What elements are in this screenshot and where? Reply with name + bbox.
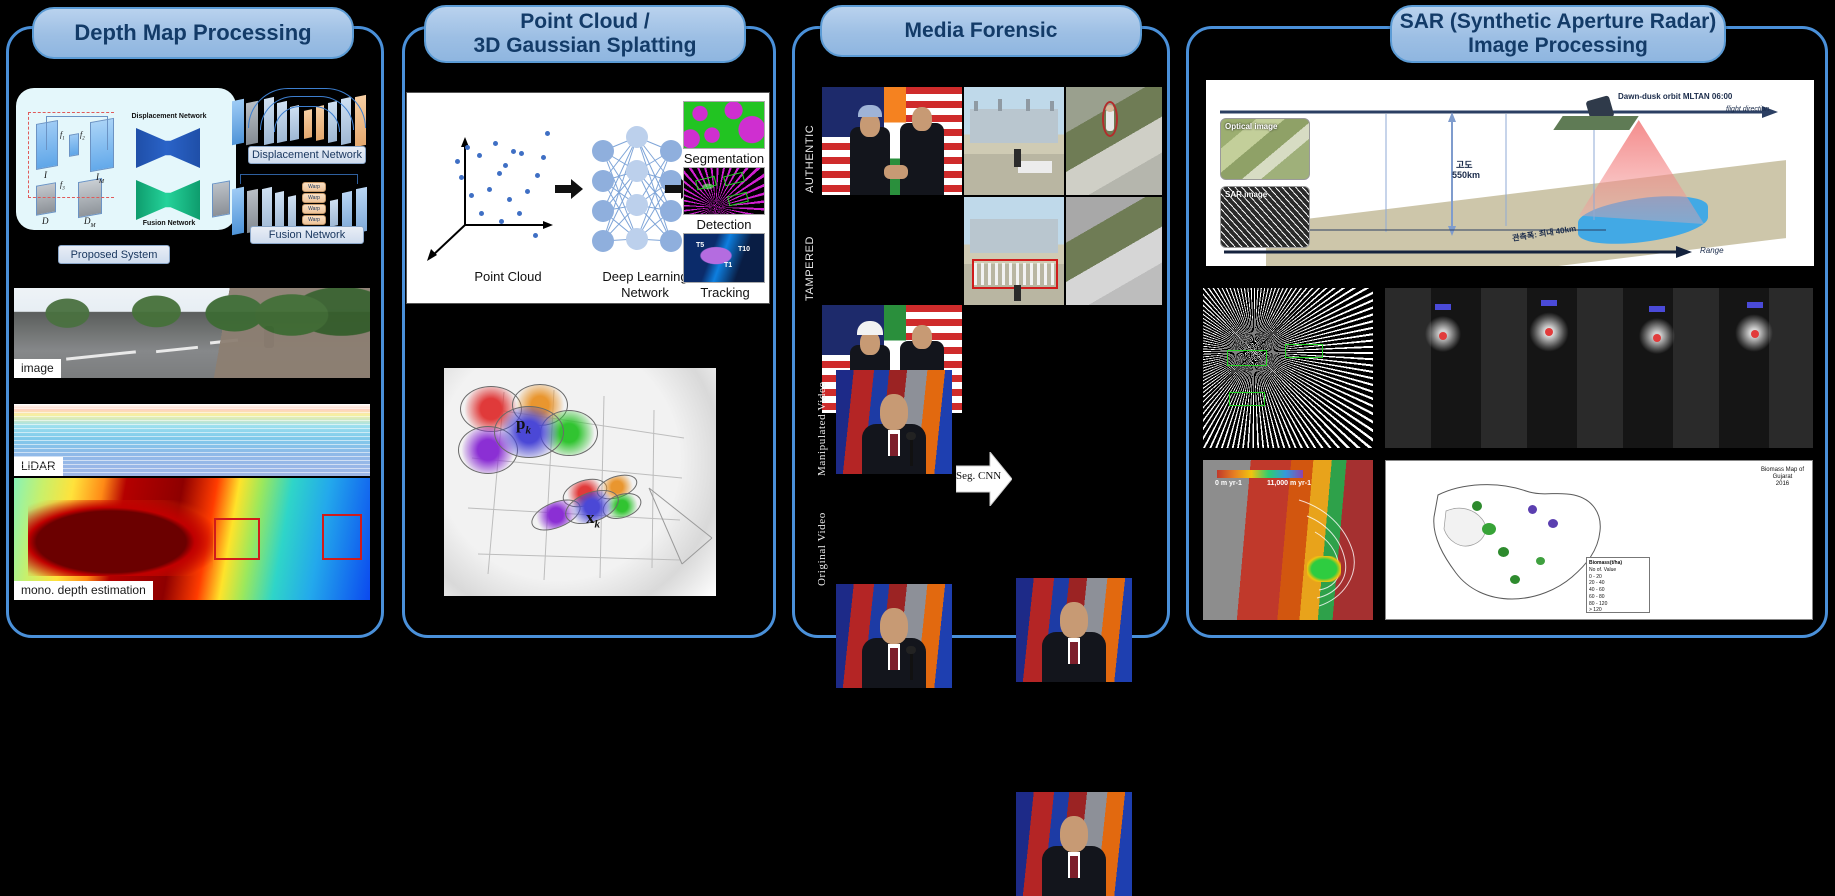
ship-box-1 <box>1227 350 1267 366</box>
displacement-network-block <box>136 128 200 168</box>
row-label-manipulated-video: Manipulated Video <box>816 372 828 476</box>
arrow-right-icon-1 <box>555 179 585 199</box>
seg-cnn-label: Seg. CNN <box>956 470 1000 482</box>
sar-result-biomass-map: Biomass Map of Gujarat 2016 Biomass(t/ha… <box>1385 460 1813 620</box>
symbol-f3: f3 <box>60 180 65 192</box>
optical-image-thumbnail-label: Optical image <box>1225 122 1277 131</box>
panel-title-line-1: Point Cloud / <box>520 10 649 34</box>
row-label-tampered: TAMPERED <box>804 203 816 301</box>
ship-box-3 <box>1229 392 1265 406</box>
warp-stack: Warp Warp Warp Warp <box>302 182 326 226</box>
output-segmentation-caption: Segmentation <box>675 151 770 166</box>
label-lidar: LiDAR <box>14 457 63 476</box>
video-frame-original-right <box>1016 792 1132 896</box>
symbol-I: I <box>44 170 47 180</box>
video-frame-original-left <box>836 584 952 688</box>
panel-title-point-cloud: Point Cloud / 3D Gaussian Splatting <box>424 5 746 63</box>
warp-tag-4: Warp <box>302 215 326 225</box>
panel-title-line-2: Image Processing <box>1468 34 1648 58</box>
sar-result-ship-detection-sar <box>1385 288 1813 448</box>
gaussian-splatting-figure: pk xk <box>444 368 716 596</box>
fusion-network-block <box>136 180 200 220</box>
velocity-contours-icon <box>1203 460 1373 620</box>
panel-title-sar: SAR (Synthetic Aperture Radar) Image Pro… <box>1390 5 1726 63</box>
output-tracking-caption: Tracking <box>683 285 767 300</box>
video-frame-manipulated-left <box>836 370 952 474</box>
forensic-photo-authentic-1 <box>822 87 962 195</box>
label-image: image <box>14 359 61 378</box>
sample-image-lidar: LiDAR <box>14 404 370 476</box>
symbol-IM: IM <box>96 172 104 185</box>
output-tracking-image: T5 T10 T1 <box>683 233 765 283</box>
sample-image-rgb: image <box>14 288 370 378</box>
ship-box-2 <box>1285 344 1323 358</box>
proposed-system-card: Displacement Network Fusion Network I IM… <box>16 88 236 230</box>
sar-result-glacier-velocity: 0 m yr-1 11,000 m yr-1 <box>1203 460 1373 620</box>
forensic-photo-tampered-3 <box>1066 197 1162 305</box>
sar-image-thumbnail-label: SAR image <box>1225 190 1267 199</box>
tracking-annotation-t1: T1 <box>724 262 732 269</box>
poster-board: Depth Map Processing Displacement Networ… <box>0 0 1835 754</box>
fusion-network-tag: Fusion Network <box>250 226 364 244</box>
axes-3d-icon <box>425 115 575 265</box>
solid-connector <box>46 116 108 150</box>
sample-image-mono-depth: mono. depth estimation <box>14 478 370 600</box>
symbol-DM: DM <box>84 216 96 229</box>
pointcloud-pipeline-figure: Point Cloud Deep Learning Network <box>406 92 770 304</box>
pointcloud-caption: Point Cloud <box>443 269 573 284</box>
biomass-legend-item-3: 40 - 60 <box>1589 587 1647 594</box>
panel-title-media-forensic: Media Forensic <box>820 5 1142 57</box>
altitude-label-line2: 550km <box>1452 170 1480 180</box>
biomass-legend-item-2: 20 - 40 <box>1589 580 1647 587</box>
sar-orbit-diagram: Dawn-dusk orbit MLTAN 06:00 flight direc… <box>1206 80 1814 266</box>
output-segmentation-image <box>683 101 765 149</box>
displacement-network-tag: Displacement Network <box>248 146 366 164</box>
roi-box-2 <box>322 514 362 560</box>
symbol-f2: f2 <box>80 130 85 142</box>
tracking-annotation-t5: T5 <box>696 242 704 249</box>
panel-title-text: Media Forensic <box>905 19 1058 43</box>
displacement-network-caption: Displacement Network <box>124 113 214 120</box>
label-x-k: xk <box>586 508 600 530</box>
orbit-label: Dawn-dusk orbit MLTAN 06:00 <box>1618 92 1732 101</box>
forensic-photo-authentic-3 <box>1066 87 1162 195</box>
biomass-legend: Biomass(t/ha) No of. Value 0 - 20 20 - 4… <box>1586 557 1650 613</box>
plate-output <box>212 180 230 217</box>
biomass-legend-item-5: 80 - 120 <box>1589 601 1647 608</box>
fusion-network-caption: Fusion Network <box>124 220 214 227</box>
video-frame-manipulated-right <box>1016 578 1132 682</box>
biomass-legend-item-0: No of. Value <box>1589 567 1647 574</box>
biomass-legend-title: Biomass(t/ha) <box>1589 560 1647 567</box>
row-label-authentic: AUTHENTIC <box>804 97 816 193</box>
roi-box-1 <box>214 518 260 560</box>
symbol-D: D <box>42 216 49 226</box>
tracking-annotation-t10: T10 <box>738 246 750 253</box>
forensic-photo-tampered-2 <box>964 197 1064 305</box>
range-label: Range <box>1700 246 1724 255</box>
optical-image-thumbnail: Optical image <box>1220 118 1310 180</box>
biomass-legend-item-1: 0 - 20 <box>1589 574 1647 581</box>
flight-direction-label: flight direction <box>1726 106 1769 113</box>
label-mono-depth: mono. depth estimation <box>14 581 153 600</box>
sar-result-ship-detection-optical <box>1203 288 1373 448</box>
forensic-photo-authentic-2 <box>964 87 1064 195</box>
proposed-system-tag: Proposed System <box>58 245 170 264</box>
biomass-legend-item-6: > 120 <box>1589 607 1647 614</box>
warp-tag-3: Warp <box>302 204 326 214</box>
sar-image-thumbnail: SAR image <box>1220 186 1310 248</box>
panel-title-text: Depth Map Processing <box>74 21 311 46</box>
forensic-image-grid: AUTHENTIC TAMPERED <box>804 85 1162 307</box>
satellite-solar-panel-icon <box>1553 116 1638 130</box>
output-detection-caption: Detection <box>679 217 769 232</box>
label-p-k: pk <box>516 414 531 436</box>
warp-tag-2: Warp <box>302 193 326 203</box>
row-label-original-video: Original Video <box>816 486 828 586</box>
symbol-f1: f1 <box>60 130 65 142</box>
forensic-video-compare: Manipulated Video Original Video Seg. CN… <box>810 368 1162 596</box>
panel-title-line-2: 3D Gaussian Splatting <box>474 34 697 58</box>
panel-title-depth-map-processing: Depth Map Processing <box>32 7 354 59</box>
panel-title-line-1: SAR (Synthetic Aperture Radar) <box>1400 10 1717 34</box>
biomass-legend-item-4: 60 - 80 <box>1589 594 1647 601</box>
output-detection-image <box>683 167 765 215</box>
